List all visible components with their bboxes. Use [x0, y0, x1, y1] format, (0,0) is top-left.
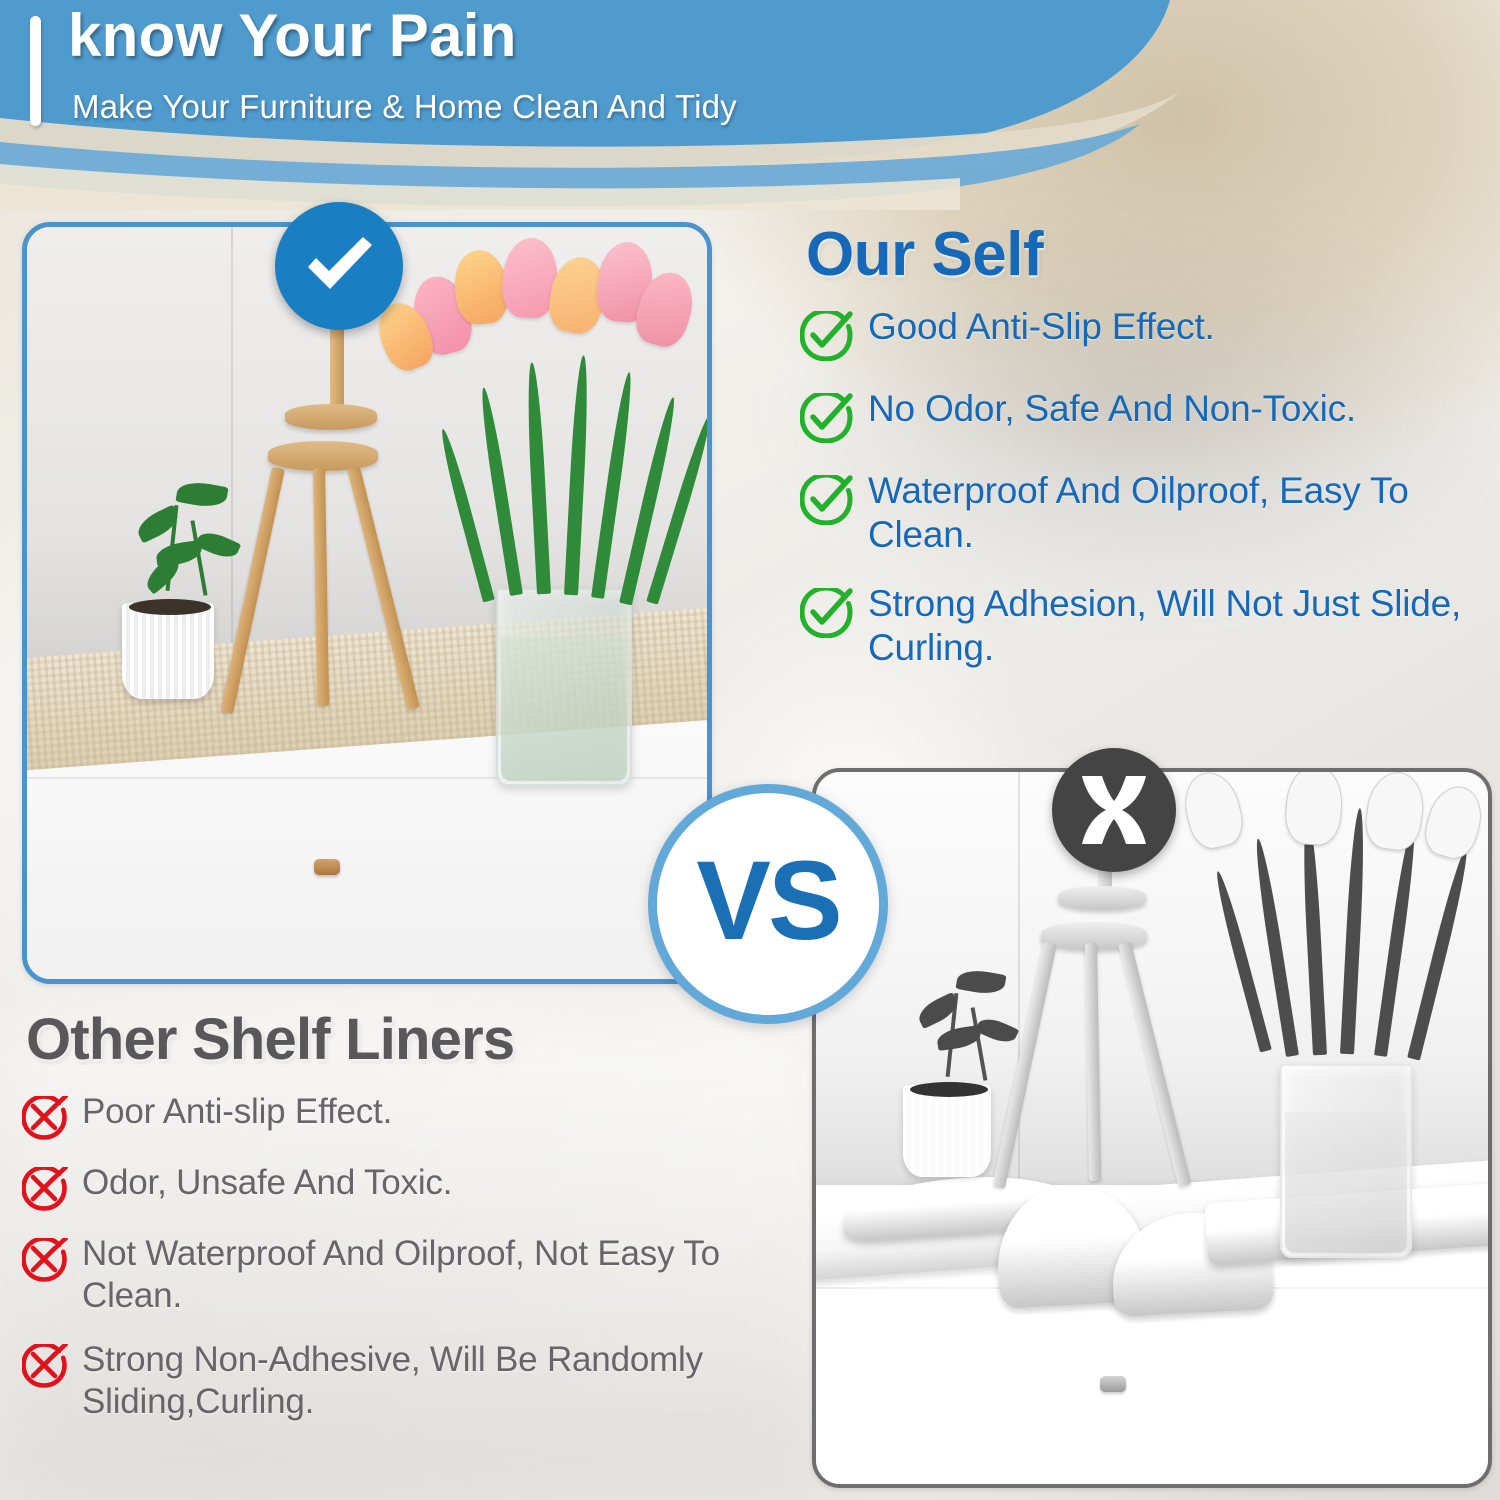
red-circle-x-icon [22, 1238, 68, 1282]
tripod-seat [268, 441, 378, 471]
list-item: Strong Non-Adhesive, Will Be Randomly Sl… [22, 1339, 722, 1423]
banner-accent-bar [30, 16, 41, 126]
our-self-list: Good Anti-Slip Effect. No Odor, Safe And… [800, 305, 1490, 670]
list-item-label: No Odor, Safe And Non-Toxic. [868, 387, 1356, 431]
list-item: No Odor, Safe And Non-Toxic. [800, 387, 1490, 443]
list-item: Odor, Unsafe And Toxic. [22, 1162, 722, 1211]
list-item-label: Strong Adhesion, Will Not Just Slide, Cu… [868, 582, 1490, 669]
drawer-knob [314, 859, 340, 875]
other-product-photo [812, 768, 1492, 1488]
list-item: Poor Anti-slip Effect. [22, 1091, 722, 1140]
pot-soil [910, 1082, 988, 1097]
list-item-label: Strong Non-Adhesive, Will Be Randomly Sl… [82, 1339, 722, 1423]
vase-water [501, 637, 627, 781]
vs-badge: VS [648, 784, 888, 1024]
list-item: Strong Adhesion, Will Not Just Slide, Cu… [800, 582, 1490, 669]
tripod-collar [1058, 886, 1146, 910]
list-item-label: Odor, Unsafe And Toxic. [82, 1162, 452, 1204]
list-item-label: Good Anti-Slip Effect. [868, 305, 1215, 349]
vase-water [1285, 1112, 1407, 1253]
infographic-canvas: know Your Pain Make Your Furniture & Hom… [0, 0, 1500, 1500]
our-self-heading: Our Self [806, 222, 1490, 287]
red-circle-x-icon [22, 1096, 68, 1140]
x-mark-icon [1072, 768, 1156, 852]
list-item: Good Anti-Slip Effect. [800, 305, 1490, 361]
plant-pot [122, 603, 214, 699]
other-liners-heading: Other Shelf Liners [26, 1010, 722, 1071]
list-item-label: Waterproof And Oilproof, Easy To Clean. [868, 469, 1490, 556]
photo-scene-grayscale [816, 772, 1488, 1484]
photo-scene-color [27, 227, 707, 979]
list-item: Not Waterproof And Oilproof, Not Easy To… [22, 1233, 722, 1317]
list-item-label: Not Waterproof And Oilproof, Not Easy To… [82, 1233, 722, 1317]
our-product-photo [22, 222, 712, 984]
list-item-label: Poor Anti-slip Effect. [82, 1091, 392, 1133]
red-circle-x-icon [22, 1344, 68, 1388]
check-mark-icon [296, 223, 382, 309]
green-circle-check-icon [800, 311, 854, 361]
green-circle-check-icon [800, 475, 854, 525]
green-circle-check-icon [800, 588, 854, 638]
red-circle-x-icon [22, 1167, 68, 1211]
drawer-knob [1100, 1376, 1126, 1392]
page-subtitle: Make Your Furniture & Home Clean And Tid… [72, 88, 737, 126]
other-liners-list: Poor Anti-slip Effect. Odor, Unsafe And … [22, 1091, 722, 1423]
other-liners-section: Other Shelf Liners Poor Anti-slip Effect… [22, 1010, 722, 1445]
glass-vase [1280, 1064, 1412, 1258]
cross-badge [1052, 748, 1176, 872]
tripod-collar [285, 404, 377, 430]
glass-vase [496, 588, 632, 786]
our-self-section: Our Self Good Anti-Slip Effect. [800, 222, 1490, 696]
header-banner: know Your Pain Make Your Furniture & Hom… [0, 0, 1500, 200]
page-title: know Your Pain [68, 4, 517, 69]
vs-label: VS [696, 845, 839, 957]
plant-pot [903, 1085, 991, 1177]
green-circle-check-icon [800, 393, 854, 443]
list-item: Waterproof And Oilproof, Easy To Clean. [800, 469, 1490, 556]
check-badge [275, 202, 403, 330]
banner-text-block: know Your Pain Make Your Furniture & Hom… [0, 0, 1100, 170]
